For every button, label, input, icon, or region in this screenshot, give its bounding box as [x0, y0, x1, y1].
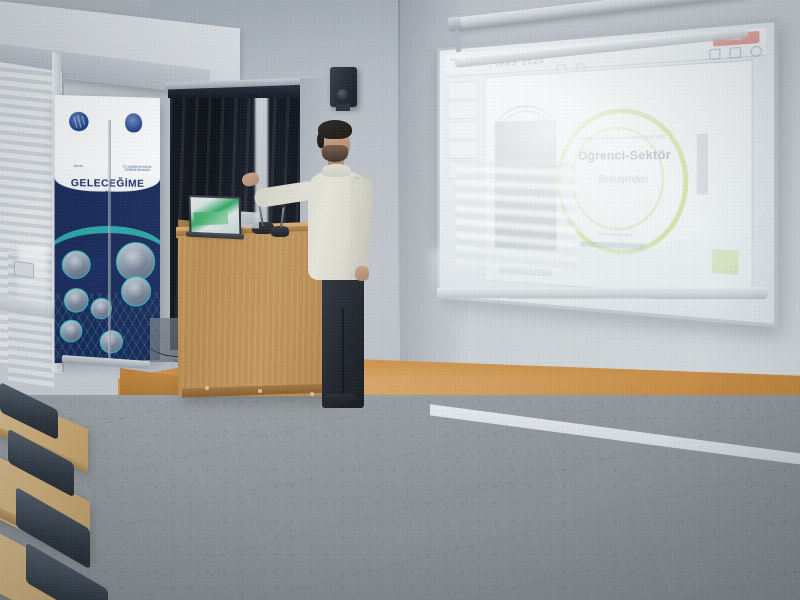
podium-nameplate: [241, 211, 259, 228]
presenter-shoe: [324, 394, 358, 406]
photo-scene: Dosya Giriş Ekle Tasarım Geçişler Animas…: [0, 0, 800, 600]
wall-corner: [398, 0, 400, 330]
text-box-icon[interactable]: [729, 47, 741, 59]
iskur-globe-logo-icon: [69, 111, 89, 131]
whiteboard-pen-tray: [437, 287, 767, 299]
banner-support-pole: [108, 120, 111, 360]
laptop-display-content: [194, 211, 229, 225]
slide-thumbnail[interactable]: [448, 120, 478, 139]
presenter-leg-seam: [342, 308, 344, 408]
presenter-left-hand: [355, 266, 369, 281]
slide-thumbnail[interactable]: [448, 140, 478, 159]
banner-logo-left-label: İŞKUR: [63, 165, 93, 168]
projected-image: Dosya Giriş Ekle Tasarım Geçişler Animas…: [440, 22, 775, 324]
ministry-crest-logo-icon: [125, 113, 142, 133]
lectern-stud: [258, 389, 262, 393]
presenter-turtleneck-collar: [322, 164, 351, 177]
tiled-floor: [0, 395, 800, 600]
presenter-laptop[interactable]: [188, 195, 241, 236]
floor-grain: [0, 395, 800, 600]
presenter-beard: [322, 145, 348, 162]
slide-thumbnail[interactable]: [448, 80, 478, 100]
banner-logo-right-label: T.C. ÇALIŞMA VE SOSYAL GÜVENLİK BAKANLIĞ…: [119, 166, 154, 173]
speaker-person: [276, 118, 384, 408]
photo-bubble-5: [121, 276, 151, 307]
slide-accent-block: [711, 250, 738, 275]
photo-bubble-7: [99, 329, 122, 353]
wall-socket[interactable]: [14, 261, 34, 279]
slide-thumbnail[interactable]: [448, 100, 478, 120]
speaker-cone-icon: [337, 89, 348, 100]
lectern-stud: [205, 386, 209, 390]
slide-thumbnail-icon[interactable]: [709, 49, 720, 61]
whiteboard-projection-screen: Dosya Giriş Ekle Tasarım Geçişler Animas…: [437, 18, 778, 328]
presenter-sideburn: [317, 132, 324, 148]
screen-window-glare: [456, 160, 576, 272]
shapes-icon[interactable]: [750, 46, 762, 58]
speaker-bracket: [336, 104, 350, 111]
wall-speaker: [330, 67, 357, 107]
